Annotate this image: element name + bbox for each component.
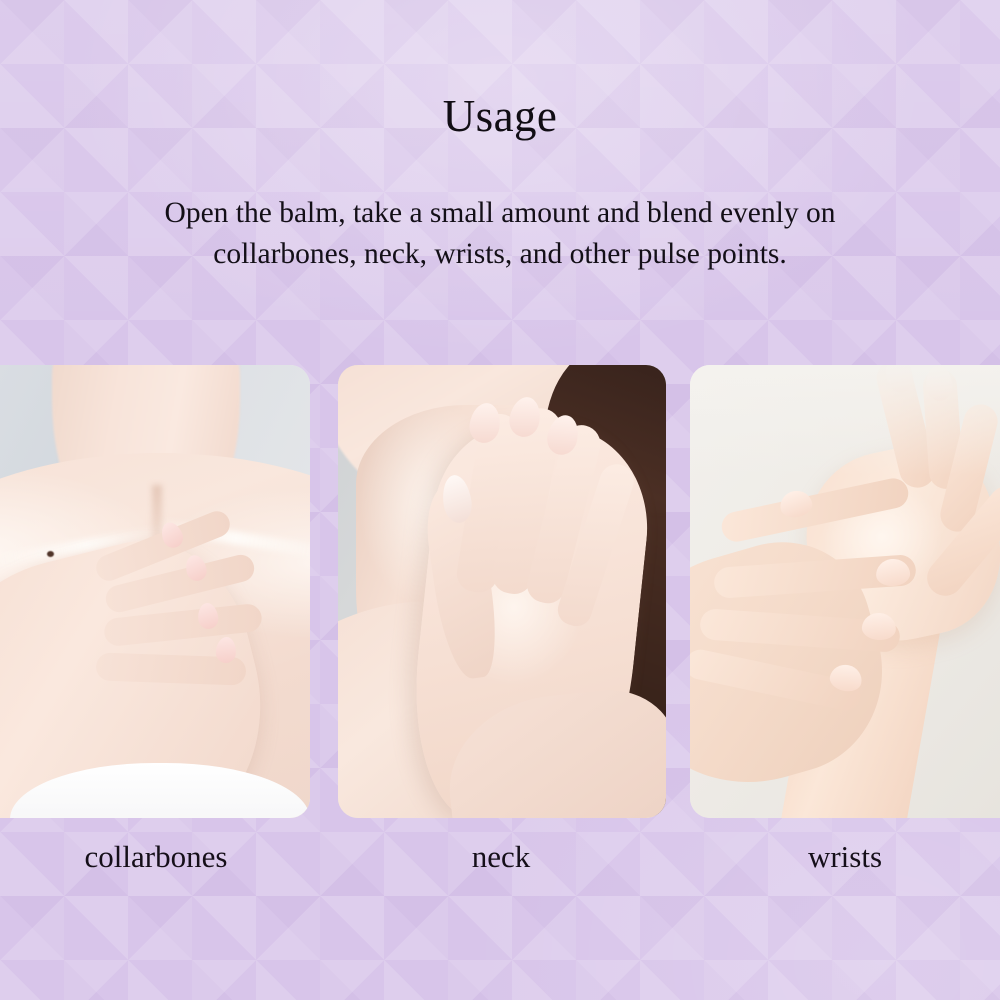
- caption-wrists: wrists: [690, 834, 1000, 880]
- page-title: Usage: [0, 90, 1000, 142]
- usage-infographic: Usage Open the balm, take a small amount…: [0, 0, 1000, 1000]
- usage-image-gallery: [0, 365, 1000, 820]
- gallery-panel-wrists: [690, 365, 1000, 818]
- wrists-photo: [690, 365, 1000, 818]
- neck-photo: [338, 365, 666, 818]
- gallery-captions: collarbones neck wrists: [0, 834, 1000, 894]
- caption-neck: neck: [336, 834, 666, 880]
- collarbones-photo: [0, 365, 310, 818]
- skin-mole: [47, 551, 54, 557]
- usage-description-line-1: Open the balm, take a small amount and b…: [60, 193, 940, 234]
- photo-top-fade: [690, 365, 1000, 475]
- usage-description: Open the balm, take a small amount and b…: [60, 193, 940, 275]
- usage-description-line-2: collarbones, neck, wrists, and other pul…: [60, 234, 940, 275]
- caption-collarbones: collarbones: [6, 834, 306, 880]
- gallery-panel-neck: [338, 365, 666, 818]
- gallery-panel-collarbones: [0, 365, 310, 818]
